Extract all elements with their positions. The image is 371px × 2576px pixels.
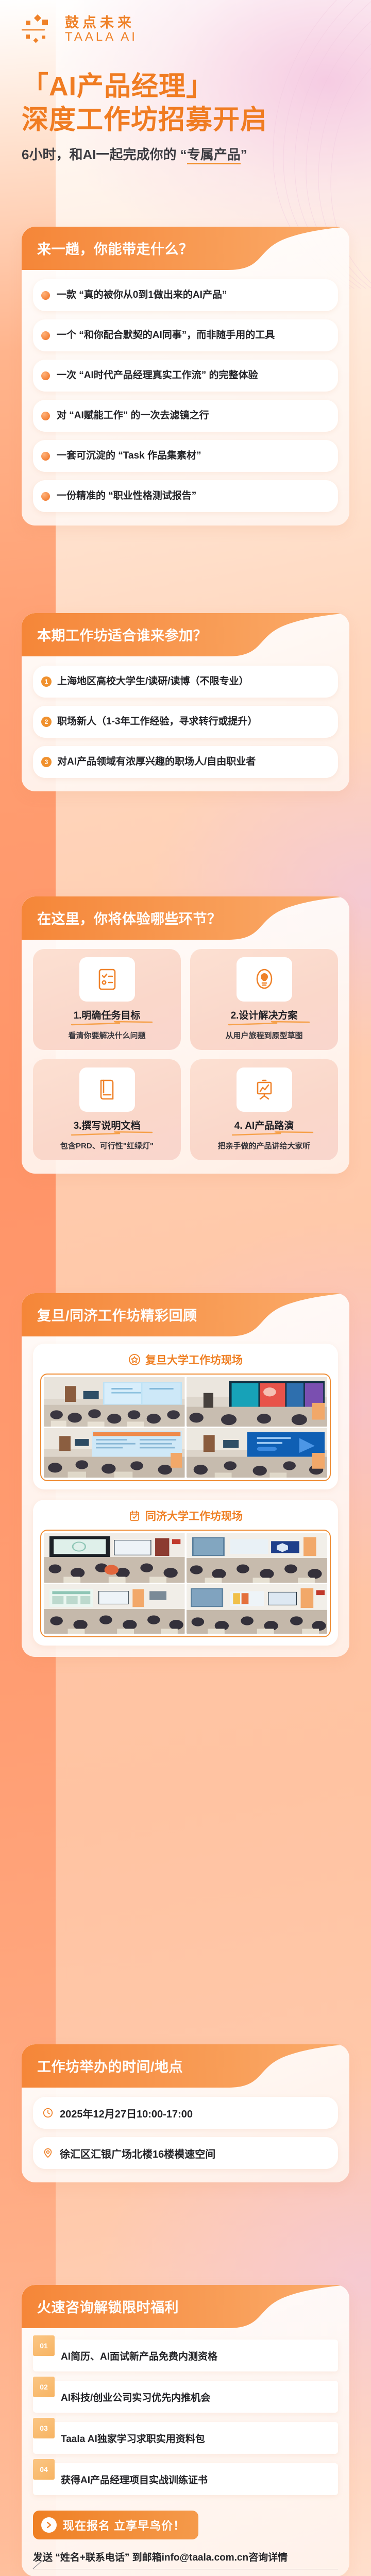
calendar-check-icon: [128, 1510, 141, 1522]
hero-header: 鼓点未来 TAALA AI 「AI产品经理」 深度工作坊招募开启 6小时，和AI…: [0, 0, 371, 206]
list-item-label: 对 “AI赋能工作” 的一次去滤镜之行: [57, 410, 209, 422]
step-title-label: 3.撰写说明文档: [74, 1121, 141, 1131]
section-steps: 在这里，你将体验哪些环节？ 1.明确任务目标 看清你要解决什么问题: [22, 896, 349, 1174]
gallery-grid: [44, 1377, 327, 1478]
gallery-heading: 复旦/同济工作坊精彩回顾: [37, 1304, 197, 1325]
section-takeaways: 来一趟，你能带走什么？ 一款 “真的被你从0到1做出来的AI产品” 一个 “和你…: [22, 227, 349, 526]
perk-number-badge: 04: [33, 2459, 55, 2480]
audience-banner: 本期工作坊适合谁来参加？: [22, 613, 349, 656]
item-number-badge: 3: [41, 757, 52, 767]
list-item-label: 一次 “AI时代产品经理真实工作流” 的完整体验: [57, 369, 258, 382]
perk-label: 获得AI产品经理项目实战训练证书: [61, 2472, 208, 2486]
location-pin-icon: [42, 2147, 54, 2159]
list-item: 1 上海地区高校大学生/读研/读博（不限专业）: [33, 666, 338, 698]
list-item-label: 一份精准的 “职业性格测试报告”: [57, 490, 196, 503]
perk-item: 01 AI简历、AI面试新产品免费内测资格: [33, 2340, 338, 2371]
perk-label: AI简历、AI面试新产品免费内测资格: [61, 2349, 217, 2363]
gallery-groups: 复旦大学工作坊现场: [22, 1336, 349, 1657]
audience-heading: 本期工作坊适合谁来参加？: [37, 624, 207, 645]
takeaways-banner: 来一趟，你能带走什么？: [22, 227, 349, 270]
perk-label: AI科技/创业公司实习优先内推机会: [61, 2390, 210, 2404]
hero-title-line-2: 深度工作坊招募开启: [22, 106, 267, 134]
workshop-photo[interactable]: [187, 1377, 328, 1427]
list-item: 一次 “AI时代产品经理真实工作流” 的完整体验: [33, 360, 338, 392]
steps-heading: 在这里，你将体验哪些环节？: [37, 908, 222, 928]
gallery-group-tongji: 同济大学工作坊现场: [33, 1500, 338, 1646]
list-item-label: 上海地区高校大学生/读研/读博（不限专业）: [57, 675, 249, 688]
gallery-frame: [40, 1530, 331, 1637]
gallery-group-header: 同济大学工作坊现场: [40, 1508, 331, 1523]
contact-note-text: 发送 “姓名+联系电话” 到邮箱info@taala.com.cn咨询详情: [33, 2550, 338, 2564]
workshop-photo[interactable]: [44, 1584, 185, 1634]
star-badge-icon: [128, 1353, 141, 1366]
workshop-datetime-row: 2025年12月27日10:00-17:00: [33, 2097, 338, 2129]
contact-note: 发送 “姓名+联系电话” 到邮箱info@taala.com.cn咨询详情: [33, 2550, 338, 2569]
workshop-photo[interactable]: [44, 1377, 185, 1427]
workshop-photo[interactable]: [187, 1533, 328, 1583]
perk-item: 03 Taala AI独家学习求职实用资料包: [33, 2422, 338, 2454]
takeaways-list: 一款 “真的被你从0到1做出来的AI产品” 一个 “和你配合默契的AI同事”，而…: [22, 270, 349, 526]
list-item-label: 一款 “真的被你从0到1做出来的AI产品”: [57, 289, 227, 302]
when-where-banner: 工作坊举办的时间/地点: [22, 2044, 349, 2088]
when-where-heading: 工作坊举办的时间/地点: [37, 2056, 183, 2076]
hero-title-line-1: 「AI产品经理」: [22, 72, 213, 101]
perk-item: 02 AI科技/创业公司实习优先内推机会: [33, 2381, 338, 2413]
checklist-icon: [79, 957, 135, 1002]
book-icon: [79, 1067, 135, 1112]
gallery-frame: [40, 1374, 331, 1481]
clock-icon: [42, 2107, 54, 2119]
step-title: 3.撰写说明文档: [74, 1118, 141, 1136]
bullet-dot-icon: [41, 331, 50, 340]
section-gallery: 复旦/同济工作坊精彩回顾 复旦大学工作坊现场: [22, 1293, 349, 1657]
gallery-group-fudan: 复旦大学工作坊现场: [33, 1344, 338, 1489]
step-card: 2.设计解决方案 从用户旅程到原型草图: [190, 949, 338, 1050]
gallery-group-title: 复旦大学工作坊现场: [145, 1352, 243, 1367]
logo-english-name: TAALA AI: [65, 30, 138, 44]
register-cta-label: 现在报名 立享早鸟价！: [63, 2517, 185, 2533]
list-item: 一款 “真的被你从0到1做出来的AI产品”: [33, 279, 338, 311]
workshop-photo[interactable]: [187, 1428, 328, 1478]
section-audience: 本期工作坊适合谁来参加？ 1 上海地区高校大学生/读研/读博（不限专业） 2 职…: [22, 613, 349, 791]
workshop-location: 徐汇区汇银广场北楼16楼模速空间: [60, 2146, 215, 2161]
step-card: 4. AI产品路演 把亲手做的产品讲给大家听: [190, 1059, 338, 1160]
list-item: 对 “AI赋能工作” 的一次去滤镜之行: [33, 400, 338, 432]
perk-number-badge: 02: [33, 2377, 55, 2397]
workshop-location-row: 徐汇区汇银广场北楼16楼模速空间: [33, 2137, 338, 2169]
bullet-dot-icon: [41, 412, 50, 420]
steps-grid: 1.明确任务目标 看清你要解决什么问题 2.设计解决方案 从用户旅程到原型草图: [22, 940, 349, 1174]
step-title-label: 1.明确任务目标: [74, 1010, 141, 1021]
easel-chart-icon: [237, 1067, 292, 1112]
list-item: 3 对AI产品领域有浓厚兴趣的职场人/自由职业者: [33, 746, 338, 778]
lightbulb-icon: [237, 957, 292, 1002]
gallery-group-header: 复旦大学工作坊现场: [40, 1352, 331, 1367]
arrow-right-icon: [41, 2517, 57, 2533]
step-desc: 包含PRD、可行性"红绿灯": [38, 1140, 176, 1151]
logo-chinese-name: 鼓点未来: [65, 15, 138, 30]
workshop-photo[interactable]: [44, 1533, 185, 1583]
step-title-label: 4. AI产品路演: [234, 1121, 294, 1131]
step-title-label: 2.设计解决方案: [231, 1010, 298, 1021]
step-desc: 把亲手做的产品讲给大家听: [195, 1140, 333, 1151]
item-number-badge: 1: [41, 676, 52, 687]
steps-banner: 在这里，你将体验哪些环节？: [22, 896, 349, 940]
audience-list: 1 上海地区高校大学生/读研/读博（不限专业） 2 职场新人（1-3年工作经验，…: [22, 656, 349, 791]
perk-item: 04 获得AI产品经理项目实战训练证书: [33, 2463, 338, 2495]
section-when-where: 工作坊举办的时间/地点 2025年12月27日10:00-17:00 徐汇区汇银…: [22, 2044, 349, 2182]
list-item: 一套可沉淀的 “Task 作品集素材”: [33, 440, 338, 472]
bullet-dot-icon: [41, 291, 50, 300]
list-item-label: 一个 “和你配合默契的AI同事”，而非随手用的工具: [57, 329, 275, 342]
step-desc: 从用户旅程到原型草图: [195, 1030, 333, 1041]
hero-subtitle-emphasis: 专属产品: [187, 147, 241, 164]
section-perks: 火速咨询解锁限时福利 01 AI简历、AI面试新产品免费内测资格 02 AI科技…: [22, 2285, 349, 2576]
hero-subtitle-prefix: 6小时，和AI一起完成你的 “: [22, 147, 187, 162]
bullet-dot-icon: [41, 492, 50, 501]
perks-heading: 火速咨询解锁限时福利: [37, 2296, 179, 2316]
gallery-grid: [44, 1533, 327, 1634]
perks-list: 01 AI简历、AI面试新产品免费内测资格 02 AI科技/创业公司实习优先内推…: [22, 2328, 349, 2509]
hero-subtitle: 6小时，和AI一起完成你的 “专属产品”: [22, 144, 247, 163]
item-number-badge: 2: [41, 717, 52, 727]
zigzag-underline-icon: [231, 1131, 314, 1136]
list-item-label: 对AI产品领域有浓厚兴趣的职场人/自由职业者: [57, 756, 256, 769]
list-item-label: 一套可沉淀的 “Task 作品集素材”: [57, 450, 201, 463]
step-title: 2.设计解决方案: [231, 1008, 298, 1025]
workshop-photo[interactable]: [44, 1428, 185, 1478]
takeaways-heading: 来一趟，你能带走什么？: [37, 238, 193, 258]
when-where-list: 2025年12月27日10:00-17:00 徐汇区汇银广场北楼16楼模速空间: [22, 2088, 349, 2182]
perk-number-badge: 03: [33, 2418, 55, 2438]
perk-number-badge: 01: [33, 2335, 55, 2356]
zigzag-underline-icon: [71, 1131, 153, 1136]
slash-accent-icon: [32, 2560, 45, 2569]
bullet-dot-icon: [41, 371, 50, 380]
zigzag-underline-icon: [228, 1021, 310, 1026]
list-item-label: 职场新人（1-3年工作经验，寻求转行或提升）: [57, 716, 257, 728]
step-title: 4. AI产品路演: [234, 1118, 294, 1136]
step-card: 1.明确任务目标 看清你要解决什么问题: [33, 949, 181, 1050]
step-title: 1.明确任务目标: [74, 1008, 141, 1025]
brand-logo[interactable]: 鼓点未来 TAALA AI: [22, 13, 138, 45]
step-desc: 看清你要解决什么问题: [38, 1030, 176, 1041]
gallery-group-title: 同济大学工作坊现场: [145, 1508, 243, 1523]
list-item: 2 职场新人（1-3年工作经验，寻求转行或提升）: [33, 706, 338, 738]
list-item: 一份精准的 “职业性格测试报告”: [33, 480, 338, 512]
gallery-banner: 复旦/同济工作坊精彩回顾: [22, 1293, 349, 1336]
workshop-photo[interactable]: [187, 1584, 328, 1634]
perks-banner: 火速咨询解锁限时福利: [22, 2285, 349, 2328]
step-card: 3.撰写说明文档 包含PRD、可行性"红绿灯": [33, 1059, 181, 1160]
workshop-datetime: 2025年12月27日10:00-17:00: [60, 2106, 193, 2121]
taala-logo-mark-icon: [22, 13, 58, 45]
perk-label: Taala AI独家学习求职实用资料包: [61, 2431, 205, 2445]
register-cta-button[interactable]: 现在报名 立享早鸟价！: [33, 2511, 198, 2539]
bullet-dot-icon: [41, 452, 50, 461]
list-item: 一个 “和你配合默契的AI同事”，而非随手用的工具: [33, 319, 338, 351]
zigzag-underline-icon: [71, 1021, 153, 1026]
hero-subtitle-suffix: ”: [241, 147, 247, 162]
